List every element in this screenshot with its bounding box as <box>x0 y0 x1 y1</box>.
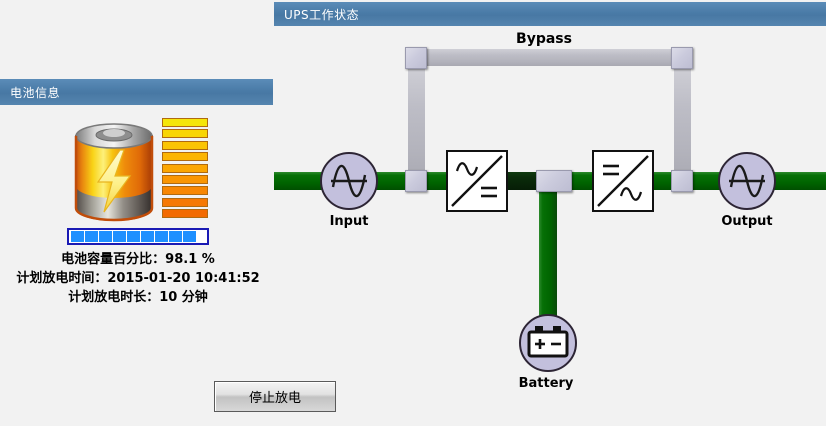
ups-flow-diagram: Bypass Input <box>274 26 826 426</box>
bus-connector-output-side <box>671 170 693 192</box>
ac-to-dc-icon <box>448 152 506 210</box>
battery-node[interactable] <box>519 314 577 372</box>
battery-charge-bar <box>162 186 208 195</box>
bus-connector-input-side <box>405 170 427 192</box>
capacity-segment <box>169 231 182 242</box>
capacity-segment <box>71 231 84 242</box>
battery-label: Battery <box>498 376 594 391</box>
bypass-left-connector <box>405 47 427 69</box>
battery-charge-bar <box>162 175 208 184</box>
ac-source-icon <box>720 154 774 208</box>
input-node[interactable] <box>320 152 378 210</box>
ac-source-icon <box>322 154 376 208</box>
capacity-segment <box>113 231 126 242</box>
battery-charge-bar <box>162 118 208 127</box>
dc-to-ac-icon <box>594 152 652 210</box>
battery-charge-bar <box>162 141 208 150</box>
battery-charge-bar <box>162 198 208 207</box>
capacity-segment <box>85 231 98 242</box>
battery-3d-icon <box>62 112 214 224</box>
battery-cell-icon <box>521 316 575 370</box>
battery-panel-header: 电池信息 <box>0 79 273 105</box>
output-node[interactable] <box>718 152 776 210</box>
battery-charge-bar <box>162 152 208 161</box>
bypass-right-connector <box>671 47 693 69</box>
battery-cylinder-icon <box>70 120 158 224</box>
capacity-segment <box>99 231 112 242</box>
battery-panel-title: 电池信息 <box>10 84 60 101</box>
output-label: Output <box>700 214 794 229</box>
bypass-label: Bypass <box>474 31 614 47</box>
input-label: Input <box>300 214 398 229</box>
bus-battery-branch <box>539 181 557 316</box>
capacity-segment <box>141 231 154 242</box>
bypass-left-leg <box>408 66 425 183</box>
inverter-node[interactable] <box>592 150 654 212</box>
battery-charge-bar <box>162 129 208 138</box>
scheduled-discharge-time-text: 计划放电时间：2015-01-20 10:41:52 <box>0 267 276 286</box>
battery-capacity-text: 电池容量百分比：98.1 % <box>0 248 276 267</box>
battery-capacity-gauge <box>67 228 209 245</box>
capacity-segment <box>127 231 140 242</box>
bypass-horizontal-bar <box>414 49 686 66</box>
scheduled-discharge-duration-text: 计划放电时长：10 分钟 <box>0 286 276 305</box>
ups-panel-title: UPS工作状态 <box>284 6 359 23</box>
battery-charge-bars <box>162 118 208 220</box>
bus-connector-dc-junction <box>536 170 572 192</box>
bypass-right-leg <box>674 66 691 183</box>
battery-charge-bar <box>162 164 208 173</box>
rectifier-node[interactable] <box>446 150 508 212</box>
capacity-segment <box>155 231 168 242</box>
battery-charge-bar <box>162 209 208 218</box>
ups-panel-header: UPS工作状态 <box>274 2 826 26</box>
capacity-segment <box>183 231 196 242</box>
